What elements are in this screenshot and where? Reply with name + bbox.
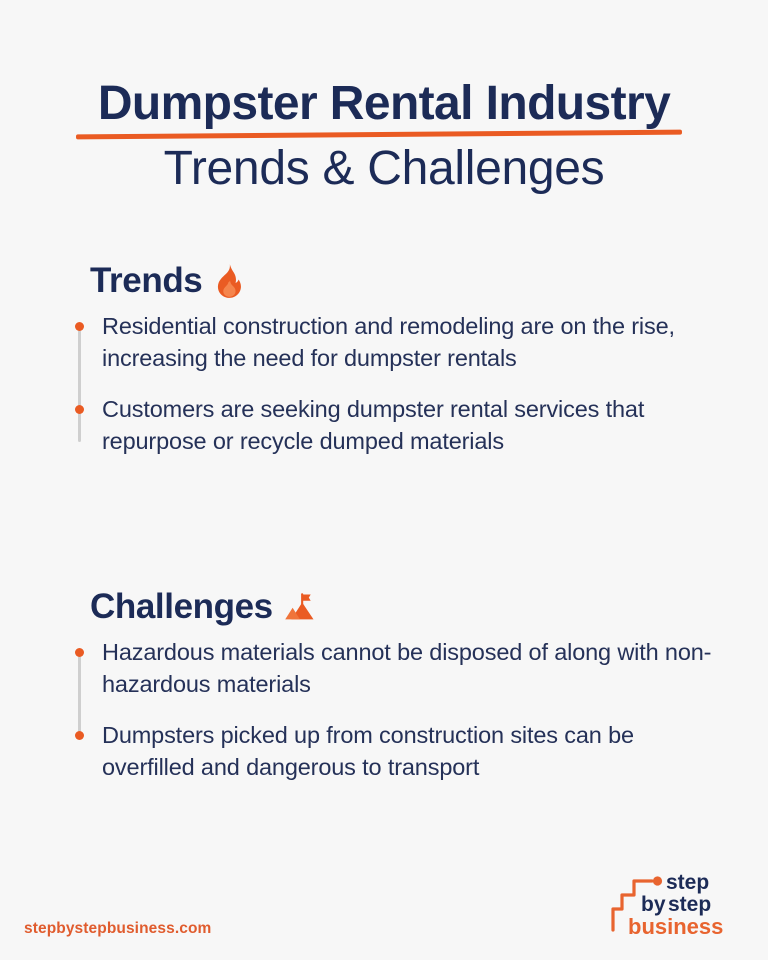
bullet-text: Dumpsters picked up from construction si… [102, 719, 728, 784]
bullet-dot-icon [75, 405, 84, 414]
section-challenges: Challenges Hazardous materials cannot be… [68, 588, 728, 784]
fire-emoji [212, 263, 246, 299]
page-title-line2: Trends & Challenges [0, 138, 768, 199]
section-trends-title: Trends [90, 263, 202, 298]
svg-text:step: step [666, 871, 709, 894]
svg-text:by: by [641, 893, 666, 916]
bullet-text: Customers are seeking dumpster rental se… [102, 393, 728, 458]
list-item: Customers are seeking dumpster rental se… [68, 393, 728, 458]
section-challenges-heading: Challenges [90, 588, 728, 624]
section-challenges-title: Challenges [90, 589, 273, 624]
mountain-flag-emoji [283, 589, 317, 625]
svg-text:business: business [628, 914, 723, 939]
footer-website-url: stepbystepbusiness.com [24, 920, 211, 938]
brand-logo: step by step business [606, 868, 746, 944]
bullet-dot-icon [75, 648, 84, 657]
bullet-dot-icon [75, 322, 84, 331]
svg-text:step: step [668, 893, 711, 916]
page-title-line1: Dumpster Rental Industry [98, 78, 670, 130]
challenges-bullet-list: Hazardous materials cannot be disposed o… [68, 636, 728, 784]
bullet-dot-icon [75, 731, 84, 740]
section-trends: Trends Residential construction and remo… [68, 262, 728, 458]
list-item: Dumpsters picked up from construction si… [68, 719, 728, 784]
trends-bullet-list: Residential construction and remodeling … [68, 310, 728, 458]
infographic-canvas: Dumpster Rental Industry Trends & Challe… [0, 0, 768, 960]
logo-dot [653, 876, 662, 885]
bullet-text: Residential construction and remodeling … [102, 310, 728, 375]
title-line1-wrapper: Dumpster Rental Industry [94, 78, 674, 130]
list-item: Residential construction and remodeling … [68, 310, 728, 375]
section-trends-heading: Trends [90, 262, 728, 298]
bullet-text: Hazardous materials cannot be disposed o… [102, 636, 728, 701]
title-block: Dumpster Rental Industry Trends & Challe… [0, 78, 768, 199]
list-item: Hazardous materials cannot be disposed o… [68, 636, 728, 701]
